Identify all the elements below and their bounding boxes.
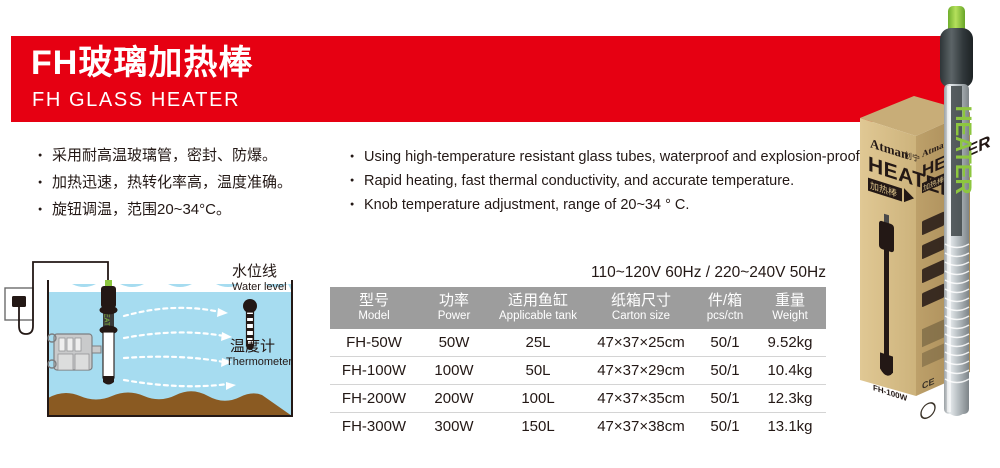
feature-item: Knob temperature adjustment, range of 20…: [350, 193, 860, 217]
feature-list-cn: 采用耐高温玻璃管，密封、防爆。 加热迅速，热转化率高，温度准确。 旋钮调温，范围…: [38, 142, 338, 223]
cell-power: 200W: [418, 385, 490, 413]
cell-carton: 47×37×38cm: [586, 413, 696, 441]
box-heater-cap: [879, 220, 894, 253]
recycle-mark-icon: [921, 400, 935, 420]
table-row: FH-50W 50W 25L 47×37×25cm 50/1 9.52kg: [330, 329, 826, 357]
cell-weight: 12.3kg: [754, 385, 826, 413]
cell-power: 300W: [418, 413, 490, 441]
cell-carton: 47×37×25cm: [586, 329, 696, 357]
page-title-cn: FH玻璃加热棒: [31, 42, 253, 84]
feature-item: 采用耐高温玻璃管，密封、防爆。: [38, 142, 338, 169]
product-spec-sheet: FH玻璃加热棒 FH GLASS HEATER 采用耐高温玻璃管，密封、防爆。 …: [0, 0, 1000, 468]
feature-item: Rapid heating, fast thermal conductivity…: [350, 169, 860, 193]
page-title-en: FH GLASS HEATER: [32, 88, 240, 112]
table-header-row: 型号 Model 功率 Power 适用鱼缸 Applicable tank 纸…: [330, 287, 826, 329]
heater-rod-product: HEATER: [940, 6, 976, 416]
thermometer-label-cn: 温度计: [230, 338, 275, 355]
table-row: FH-300W 300W 150L 47×37×38cm 50/1 13.1kg: [330, 413, 826, 441]
header-cn: 功率: [420, 292, 488, 309]
cell-carton: 47×37×35cm: [586, 385, 696, 413]
water-level-label-en: Water level: [232, 281, 287, 293]
cell-weight: 10.4kg: [754, 357, 826, 385]
column-header-model: 型号 Model: [330, 287, 418, 329]
header-cn: 重量: [756, 292, 824, 309]
aquarium-illustration: HEATER: [0, 258, 320, 440]
feature-list-en: Using high-temperature resistant glass t…: [350, 145, 860, 217]
feature-item: Using high-temperature resistant glass t…: [350, 145, 860, 169]
header-en: Model: [332, 309, 416, 323]
cell-power: 100W: [418, 357, 490, 385]
box-heater-tube: [884, 248, 889, 368]
water-level-label-cn: 水位线: [232, 263, 277, 280]
cell-model: FH-100W: [330, 357, 418, 385]
header-cn: 纸箱尺寸: [588, 292, 694, 309]
product-photo: Atman 创宁 HEATER 加热棒 FH-100W Atman H: [852, 0, 1000, 468]
cell-tank: 25L: [490, 329, 586, 357]
cell-tank: 50L: [490, 357, 586, 385]
cell-pcs: 50/1: [696, 385, 754, 413]
cell-model: FH-300W: [330, 413, 418, 441]
cell-carton: 47×37×29cm: [586, 357, 696, 385]
rod-highlight: [947, 86, 951, 412]
header-en: Applicable tank: [492, 309, 584, 323]
cell-pcs: 50/1: [696, 329, 754, 357]
cell-tank: 100L: [490, 385, 586, 413]
column-header-carton-size: 纸箱尺寸 Carton size: [586, 287, 696, 329]
rod-label: HEATER: [951, 106, 976, 195]
cell-power: 50W: [418, 329, 490, 357]
table-row: FH-100W 100W 50L 47×37×29cm 50/1 10.4kg: [330, 357, 826, 385]
plug-icon: [12, 296, 26, 307]
cell-model: FH-50W: [330, 329, 418, 357]
column-header-power: 功率 Power: [418, 287, 490, 329]
feature-item: 旋钮调温，范围20~34°C。: [38, 196, 338, 223]
header-en: Power: [420, 309, 488, 323]
header-en: pcs/ctn: [698, 309, 752, 323]
column-header-pcs-per-ctn: 件/箱 pcs/ctn: [696, 287, 754, 329]
column-header-applicable-tank: 适用鱼缸 Applicable tank: [490, 287, 586, 329]
header-cn: 件/箱: [698, 292, 752, 309]
header-en: Weight: [756, 309, 824, 323]
cell-pcs: 50/1: [696, 413, 754, 441]
specification-table: 型号 Model 功率 Power 适用鱼缸 Applicable tank 纸…: [330, 287, 826, 440]
cell-weight: 9.52kg: [754, 329, 826, 357]
cell-pcs: 50/1: [696, 357, 754, 385]
voltage-note: 110~120V 60Hz / 220~240V 50Hz: [330, 264, 826, 282]
table-row: FH-200W 200W 100L 47×37×35cm 50/1 12.3kg: [330, 385, 826, 413]
column-header-weight: 重量 Weight: [754, 287, 826, 329]
thermometer-label-en: Thermometer: [226, 356, 292, 368]
feature-item: 加热迅速，热转化率高，温度准确。: [38, 169, 338, 196]
header-cn: 适用鱼缸: [492, 292, 584, 309]
cell-weight: 13.1kg: [754, 413, 826, 441]
title-banner: FH玻璃加热棒 FH GLASS HEATER: [11, 36, 948, 122]
header-cn: 型号: [332, 292, 416, 309]
cell-tank: 150L: [490, 413, 586, 441]
header-en: Carton size: [588, 309, 694, 323]
rod-cap: [940, 28, 973, 88]
cell-model: FH-200W: [330, 385, 418, 413]
